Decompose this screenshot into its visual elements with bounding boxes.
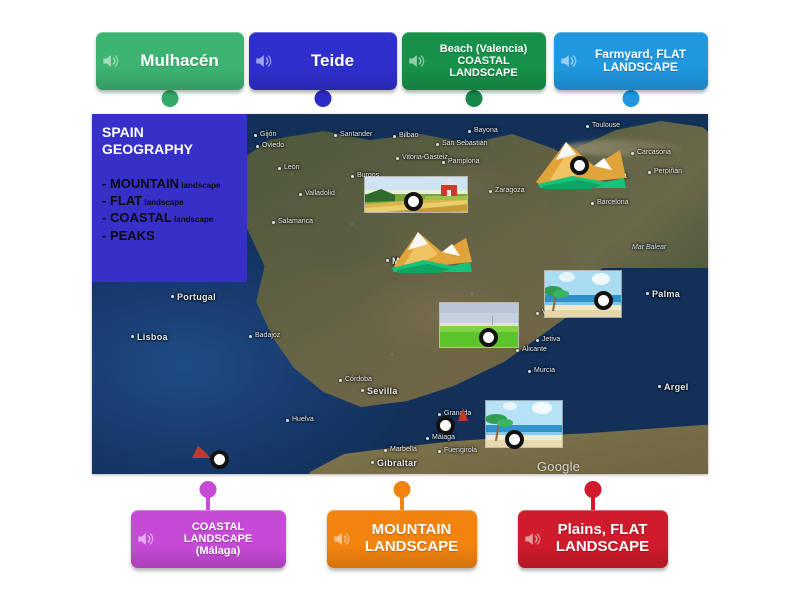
speaker-icon[interactable] — [522, 529, 542, 549]
label-chip-mountain-landscape[interactable]: MOUNTAIN LANDSCAPE — [327, 510, 477, 568]
canary-island-marker-icon — [190, 444, 212, 460]
map-thumbnail-beach-malaga[interactable] — [485, 400, 563, 448]
info-box-item-small: landscape — [142, 198, 183, 207]
speaker-icon[interactable] — [100, 51, 120, 71]
label-chip-plains-flat[interactable]: Plains, FLAT LANDSCAPE — [518, 510, 668, 568]
info-box-item-prefix: - — [102, 228, 110, 243]
connector-farmyard-flat — [621, 90, 641, 107]
info-box-item: - FLAT landscape — [102, 192, 239, 209]
connector-teide — [313, 90, 333, 107]
info-box-list: - MOUNTAIN landscape- FLAT landscape- CO… — [102, 175, 239, 244]
info-box-item-strong: COASTAL — [110, 210, 172, 225]
info-box-item-strong: MOUNTAIN — [110, 176, 179, 191]
label-chip-text: Plains, FLAT LANDSCAPE — [545, 522, 660, 556]
label-chip-text: Mulhacén — [123, 51, 236, 70]
connector-mulhacen — [160, 90, 180, 107]
marker-plains[interactable] — [479, 328, 498, 347]
beach-palm-illustration-2 — [486, 401, 563, 448]
label-chip-mulhacen[interactable]: Mulhacén — [96, 32, 244, 90]
info-box-item-strong: FLAT — [110, 193, 142, 208]
label-chip-beach-valencia[interactable]: Beach (Valencia) COASTAL LANDSCAPE — [402, 32, 546, 90]
info-box-item-small: landscape — [172, 215, 213, 224]
map-container[interactable]: A CoruñaLugoSantiago de CompostelaGijónO… — [92, 114, 708, 474]
connector-beach-valencia — [464, 90, 484, 107]
label-chip-coastal-malaga[interactable]: COASTAL LANDSCAPE (Málaga) — [131, 510, 286, 568]
info-box-item-strong: PEAKS — [110, 228, 155, 243]
info-box-item: - PEAKS — [102, 227, 239, 244]
info-box-item: - MOUNTAIN landscape — [102, 175, 239, 192]
map-thumbnail-peak-madrid[interactable] — [390, 226, 474, 274]
marker-farmyard[interactable] — [404, 192, 423, 211]
speaker-icon[interactable] — [135, 529, 155, 549]
info-box-title: SPAIN GEOGRAPHY — [102, 124, 239, 157]
info-box-item-prefix: - — [102, 176, 110, 191]
mountain-icon-malaga — [456, 406, 470, 422]
connector-plains-flat — [583, 481, 603, 510]
marker-beach-valencia[interactable] — [594, 291, 613, 310]
marker-teide-canary[interactable] — [210, 450, 229, 469]
info-box-item-prefix: - — [102, 193, 110, 208]
info-box-item: - COASTAL landscape — [102, 209, 239, 226]
speaker-icon[interactable] — [558, 51, 578, 71]
info-box-item-small: landscape — [179, 181, 220, 190]
snow-peak-illustration-2 — [390, 226, 474, 274]
label-chip-text: Farmyard, FLAT LANDSCAPE — [581, 48, 700, 75]
label-chip-text: COASTAL LANDSCAPE (Málaga) — [158, 521, 278, 558]
speaker-icon[interactable] — [406, 51, 426, 71]
label-chip-teide[interactable]: Teide — [249, 32, 397, 90]
speaker-icon[interactable] — [331, 529, 351, 549]
label-chip-text: Beach (Valencia) COASTAL LANDSCAPE — [429, 43, 538, 80]
marker-peaks-andorra[interactable] — [570, 156, 589, 175]
marker-malaga-beach[interactable] — [436, 416, 455, 435]
marker-coast-east[interactable] — [505, 430, 524, 449]
connector-coastal-malaga — [198, 481, 218, 510]
label-chip-farmyard-flat[interactable]: Farmyard, FLAT LANDSCAPE — [554, 32, 708, 90]
speaker-icon[interactable] — [253, 51, 273, 71]
info-box-item-prefix: - — [102, 210, 110, 225]
label-chip-text: MOUNTAIN LANDSCAPE — [354, 522, 469, 556]
activity-canvas: A CoruñaLugoSantiago de CompostelaGijónO… — [0, 0, 800, 600]
google-watermark: Google — [537, 459, 580, 474]
info-box: SPAIN GEOGRAPHY - MOUNTAIN landscape- FL… — [92, 114, 247, 282]
label-chip-text: Teide — [276, 51, 389, 70]
connector-mountain-landscape — [392, 481, 412, 510]
